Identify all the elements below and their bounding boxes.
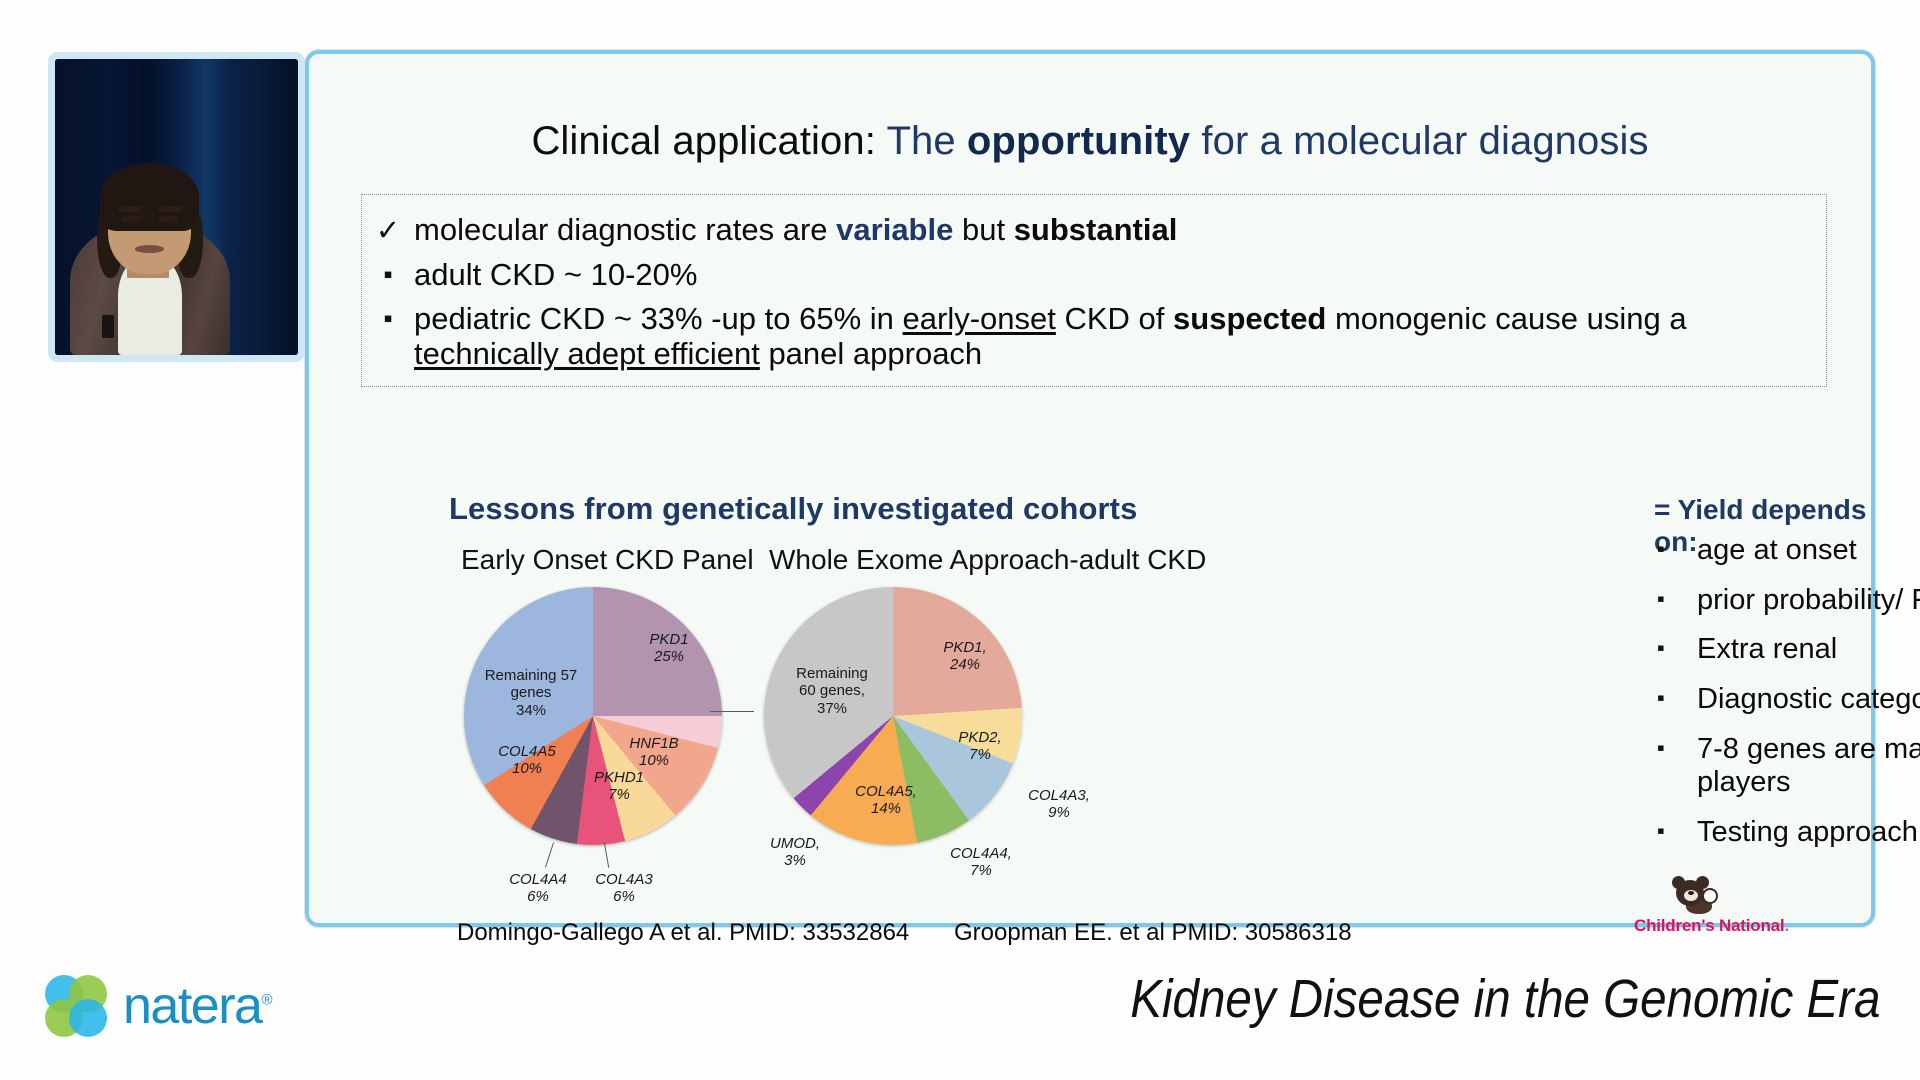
natera-mark-icon (45, 975, 107, 1037)
square-bullet-icon: ▪ (1657, 534, 1697, 565)
childrens-national-logo: Children's National. (1634, 876, 1794, 948)
pie-slice-label-col4a4: COL4A4, 7% (932, 845, 1030, 880)
list-item: ▪ pediatric CKD ~ 33% -up to 65% in earl… (362, 302, 1826, 371)
leader-line-col4a3 (604, 842, 609, 868)
text-segment: but (953, 212, 1013, 247)
pie-slice-label-hnf1b: HNF1B 10% (614, 735, 694, 770)
list-item-label: age at onset (1697, 534, 1857, 568)
list-item-text: adult CKD ~ 10-20% (414, 258, 1826, 293)
leader-line-pkd2 (710, 711, 754, 712)
registered-mark: ® (261, 992, 271, 1009)
chart-title-early-onset-panel: Early Onset CKD Panel (461, 544, 754, 576)
pie-slice-label-pkhd1: PKHD1 7% (579, 769, 659, 804)
text-segment-suspected: suspected (1173, 301, 1326, 336)
leader-line-col4a4 (545, 842, 554, 867)
list-item-label: prior probability/ FH (1697, 584, 1920, 618)
list-item: ▪ adult CKD ~ 10-20% (362, 258, 1826, 293)
list-item: ▪ age at onset (1657, 534, 1920, 568)
logo-dot: . (1784, 916, 1789, 935)
list-item: ✓ molecular diagnostic rates are variabl… (362, 213, 1826, 249)
key-points-list: ✓ molecular diagnostic rates are variabl… (362, 195, 1826, 371)
pie-slice-label-col4a5: COL4A5 10% (484, 743, 570, 778)
text-segment-substantial: substantial (1014, 212, 1178, 247)
speaker-figure (70, 142, 230, 355)
pie-slice-label-umod: UMOD, 3% (752, 835, 838, 870)
list-item: ▪ Testing approach (1657, 816, 1920, 850)
square-bullet-icon: ▪ (1657, 733, 1697, 764)
list-item: ▪ 7-8 genes are major players (1657, 733, 1920, 800)
text-segment: monogenic cause using a (1326, 301, 1686, 336)
text-segment: molecular diagnostic rates are (414, 212, 836, 247)
brand-word: natera (123, 977, 261, 1035)
text-segment-panel: technically adept efficient (414, 336, 760, 371)
key-points-box: ✓ molecular diagnostic rates are variabl… (361, 194, 1827, 387)
list-item-label: Testing approach (1697, 816, 1918, 850)
webinar-title: Kidney Disease in the Genomic Era (1130, 968, 1880, 1030)
text-segment: CKD of (1056, 301, 1173, 336)
list-item-text: molecular diagnostic rates are variable … (414, 213, 1826, 248)
pie-slice-label-col4a3: COL4A3, 9% (1010, 787, 1108, 822)
yield-factors-list: ▪ age at onset ▪ prior probability/ FH ▪… (1657, 534, 1920, 865)
slide-title-black: Clinical application: (531, 119, 886, 163)
lessons-heading: Lessons from genetically investigated co… (449, 491, 1137, 527)
slide-title-blue-post: for a molecular diagnosis (1190, 119, 1648, 163)
square-bullet-icon: ▪ (362, 258, 414, 291)
pie-chart-whole-exome-adult-ckd: PKD1, 24% Remaining 60 genes, 37% PKD2, … (764, 587, 1144, 917)
pie-slice-label-remaining: Remaining 57 genes 34% (476, 667, 586, 719)
square-bullet-icon: ▪ (1657, 816, 1697, 847)
presentation-slide: Clinical application: The opportunity fo… (305, 50, 1875, 927)
pie-slice-label-pkd2: PKD2, 7% (942, 729, 1018, 764)
text-segment: panel approach (760, 336, 982, 371)
slide-title-blue-pre: The (886, 119, 966, 163)
square-bullet-icon: ▪ (1657, 683, 1697, 714)
pie-slice-label-pkd1: PKD1, 24% (922, 639, 1008, 674)
slide-title: Clinical application: The opportunity fo… (309, 119, 1871, 164)
citation-right: Groopman EE. et al PMID: 30586318 (954, 919, 1352, 947)
square-bullet-icon: ▪ (1657, 584, 1697, 615)
logo-text: Children's National (1634, 916, 1784, 935)
list-item-label: 7-8 genes are major players (1697, 733, 1920, 800)
list-item-text: pediatric CKD ~ 33% -up to 65% in early-… (414, 302, 1826, 371)
chart-title-whole-exome: Whole Exome Approach-adult CKD (769, 544, 1206, 576)
pie-slice-label-col4a3: COL4A3 6% (578, 871, 670, 906)
text-segment-variable: variable (836, 212, 953, 247)
video-frame (55, 59, 298, 355)
square-bullet-icon: ▪ (362, 302, 414, 335)
speaker-video-thumbnail[interactable] (48, 52, 305, 362)
childrens-national-wordmark: Children's National. (1634, 916, 1789, 936)
natera-logo: natera® (45, 975, 271, 1037)
pie-slice-label-col4a4: COL4A4 6% (492, 871, 584, 906)
bear-icon (1666, 876, 1718, 916)
pie-slice-label-pkd1: PKD1 25% (624, 631, 714, 666)
pie-slice-label-col4a5: COL4A5, 14% (836, 783, 936, 818)
slide-title-emphasis: opportunity (967, 119, 1190, 163)
natera-wordmark: natera® (123, 976, 271, 1036)
citation-left: Domingo-Gallego A et al. PMID: 33532864 (457, 919, 909, 947)
list-item: ▪ prior probability/ FH (1657, 584, 1920, 618)
list-item: ▪ Extra renal (1657, 633, 1920, 667)
list-item-label: Extra renal (1697, 633, 1837, 667)
list-item: ▪ Diagnostic category (1657, 683, 1920, 717)
list-item-label: Diagnostic category (1697, 683, 1920, 717)
square-bullet-icon: ▪ (1657, 633, 1697, 664)
pie-slice-label-remaining: Remaining 60 genes, 37% (772, 665, 892, 717)
text-segment-early-onset: early-onset (903, 301, 1056, 336)
text-segment: pediatric CKD ~ 33% -up to 65% in (414, 301, 903, 336)
check-icon: ✓ (362, 213, 414, 249)
